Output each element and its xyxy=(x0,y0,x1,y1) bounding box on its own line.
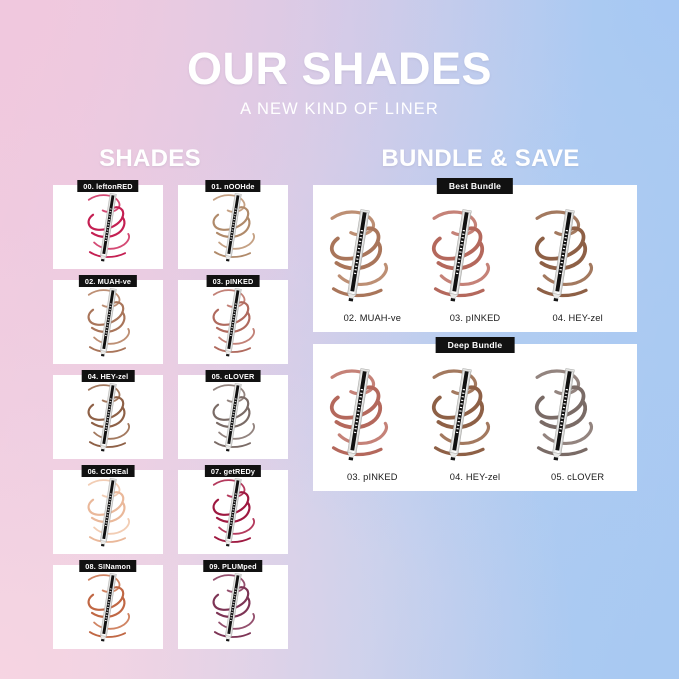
shade-swatch xyxy=(206,567,260,647)
shade-card[interactable]: 02. MUAH-ve xyxy=(53,280,163,364)
shades-section-title: SHADES xyxy=(99,145,201,172)
shade-label: 04. HEY-zel xyxy=(82,370,135,382)
shade-swatch-area xyxy=(178,280,288,364)
shade-swatch-area xyxy=(53,470,163,554)
shade-label: 05. cLOVER xyxy=(206,370,261,382)
shade-swatch-area xyxy=(53,280,163,364)
page-title: OUR SHADES xyxy=(0,46,679,91)
bundle-box[interactable]: Deep Bundle xyxy=(313,344,637,491)
bundle-item[interactable]: 04. HEY-zel xyxy=(527,201,629,323)
shade-label: 03. pINKED xyxy=(207,275,260,287)
bundles-wrap: Best Bundle xyxy=(313,185,637,491)
bundle-row: 02. MUAH-ve xyxy=(321,201,629,323)
pencil-icon xyxy=(224,478,241,546)
shade-swatch xyxy=(322,360,394,468)
bundle-item-label: 05. cLOVER xyxy=(527,472,629,482)
pencil-icon xyxy=(99,573,116,641)
shade-label: 06. COREal xyxy=(82,465,135,477)
shade-label: 01. nOOHde xyxy=(205,180,260,192)
bundle-item[interactable]: 03. pINKED xyxy=(424,201,526,323)
pencil-icon xyxy=(99,193,116,261)
bundle-item-label: 04. HEY-zel xyxy=(424,472,526,482)
shade-swatch-area xyxy=(178,185,288,269)
shade-card[interactable]: 06. COREal xyxy=(53,470,163,554)
shade-label: 00. leftonRED xyxy=(77,180,138,192)
shade-label: 02. MUAH-ve xyxy=(79,275,137,287)
pencil-icon xyxy=(224,573,241,641)
bundle-item[interactable]: 05. cLOVER xyxy=(527,360,629,482)
pencil-icon xyxy=(99,383,116,451)
shade-swatch xyxy=(81,187,135,267)
page-header: OUR SHADES A NEW KIND OF LINER xyxy=(0,0,679,119)
shade-card[interactable]: 07. getREDy xyxy=(178,470,288,554)
shade-swatch xyxy=(206,187,260,267)
shade-card[interactable]: 04. HEY-zel xyxy=(53,375,163,459)
pencil-icon xyxy=(99,288,116,356)
shade-swatch-area xyxy=(178,470,288,554)
shade-swatch xyxy=(527,201,599,309)
shade-card[interactable]: 05. cLOVER xyxy=(178,375,288,459)
shades-grid: 00. leftonRED xyxy=(53,185,300,649)
bundle-item[interactable]: 03. pINKED xyxy=(322,360,424,482)
shade-swatch-area xyxy=(53,565,163,649)
shade-swatch xyxy=(206,377,260,457)
bundle-item[interactable]: 02. MUAH-ve xyxy=(322,201,424,323)
shade-card[interactable]: 03. pINKED xyxy=(178,280,288,364)
shade-label: 09. PLUMped xyxy=(203,560,262,572)
shade-swatch-area xyxy=(53,375,163,459)
shade-swatch xyxy=(81,377,135,457)
bundle-tag: Best Bundle xyxy=(437,178,513,194)
bundle-section-title: BUNDLE & SAVE xyxy=(381,145,579,172)
shade-swatch xyxy=(81,282,135,362)
bundle-item-label: 02. MUAH-ve xyxy=(322,313,424,323)
shade-card[interactable]: 01. nOOHde xyxy=(178,185,288,269)
pencil-icon xyxy=(224,383,241,451)
shade-swatch xyxy=(527,360,599,468)
shade-swatch-area xyxy=(53,185,163,269)
pencil-icon xyxy=(224,193,241,261)
shade-swatch xyxy=(424,360,496,468)
shade-card[interactable]: 00. leftonRED xyxy=(53,185,163,269)
bundle-row: 03. pINKED xyxy=(321,360,629,482)
shade-swatch-area xyxy=(178,565,288,649)
shade-swatch xyxy=(206,282,260,362)
shade-swatch xyxy=(81,567,135,647)
section-headings: SHADES BUNDLE & SAVE xyxy=(0,145,679,173)
bundle-item-label: 03. pINKED xyxy=(424,313,526,323)
bundle-tag: Deep Bundle xyxy=(436,337,515,353)
shade-swatch xyxy=(81,472,135,552)
shade-card[interactable]: 09. PLUMped xyxy=(178,565,288,649)
shade-swatch-area xyxy=(178,375,288,459)
bundles-column: Best Bundle xyxy=(300,185,679,649)
shades-column: 00. leftonRED xyxy=(0,185,300,649)
page-subtitle: A NEW KIND OF LINER xyxy=(0,100,679,119)
bundle-box[interactable]: Best Bundle xyxy=(313,185,637,332)
shade-swatch xyxy=(424,201,496,309)
bundle-item-label: 04. HEY-zel xyxy=(527,313,629,323)
shades-heading-wrap: SHADES xyxy=(0,145,300,173)
shade-swatch xyxy=(322,201,394,309)
shade-label: 08. SINamon xyxy=(79,560,136,572)
shade-label: 07. getREDy xyxy=(205,465,261,477)
pencil-icon xyxy=(99,478,116,546)
bundle-item[interactable]: 04. HEY-zel xyxy=(424,360,526,482)
bundle-heading-wrap: BUNDLE & SAVE xyxy=(300,145,679,173)
bundle-item-label: 03. pINKED xyxy=(322,472,424,482)
pencil-icon xyxy=(224,288,241,356)
shade-card[interactable]: 08. SINamon xyxy=(53,565,163,649)
shade-swatch xyxy=(206,472,260,552)
content-body: 00. leftonRED xyxy=(0,185,679,649)
